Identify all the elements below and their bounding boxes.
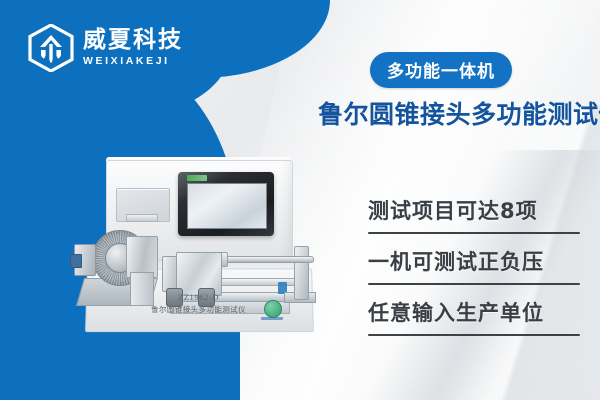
product-image: ZZ1962-D 鲁尔圆锥接头多功能测试仪	[78, 160, 318, 375]
cert-badge-caption	[261, 317, 283, 320]
feature-divider	[368, 334, 580, 336]
hexagon-arrow-logo-icon	[28, 24, 74, 72]
feature-list: 测试项目可达8项 一机可测试正负压 任意输入生产单位	[368, 192, 580, 345]
page-title: 鲁尔圆锥接头多功能测试仪	[318, 95, 600, 131]
screen-brand-strip	[187, 175, 207, 181]
screen-display	[187, 183, 267, 229]
brand-name-cn: 威夏科技	[83, 29, 183, 52]
feature-divider	[368, 232, 580, 234]
touchscreen-hmi-icon	[178, 172, 274, 236]
brand-logo: 威夏科技 WEIXIAKEJI	[28, 24, 183, 72]
green-circular-cert-icon	[264, 300, 282, 318]
feature-item: 一机可测试正负压	[368, 243, 580, 282]
feature-item: 测试项目可达8项	[368, 192, 580, 231]
machine-panel-handle	[126, 214, 158, 222]
hero-badge: 多功能一体机	[370, 52, 512, 88]
feature-item: 任意输入生产单位	[368, 294, 580, 333]
promo-banner: 威夏科技 WEIXIAKEJI 多功能一体机 鲁尔圆锥接头多功能测试仪 测试项目…	[0, 0, 600, 400]
brand-logo-text: 威夏科技 WEIXIAKEJI	[83, 29, 183, 67]
feature-divider	[368, 283, 580, 285]
brand-name-en: WEIXIAKEJI	[83, 56, 183, 67]
left-clamp-tip	[70, 254, 82, 268]
push-rod	[216, 256, 314, 263]
